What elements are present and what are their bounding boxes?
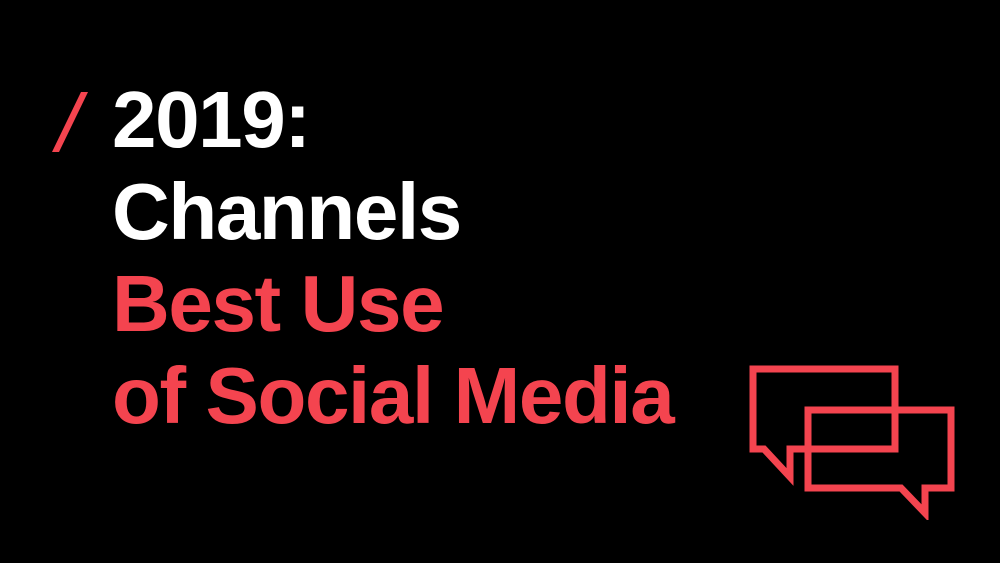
title-line-category: Channels xyxy=(112,166,812,258)
page-title: 2019: Channels Best Use of Social Media xyxy=(112,74,812,442)
title-line-award-part-one: Best Use xyxy=(112,258,812,350)
title-line-award-part-two: of Social Media xyxy=(112,350,812,442)
speech-bubbles-icon xyxy=(742,358,962,520)
title-slide: 2019: Channels Best Use of Social Media xyxy=(0,0,1000,563)
forward-slash-accent-mark xyxy=(52,92,88,152)
title-line-year: 2019: xyxy=(112,74,812,166)
